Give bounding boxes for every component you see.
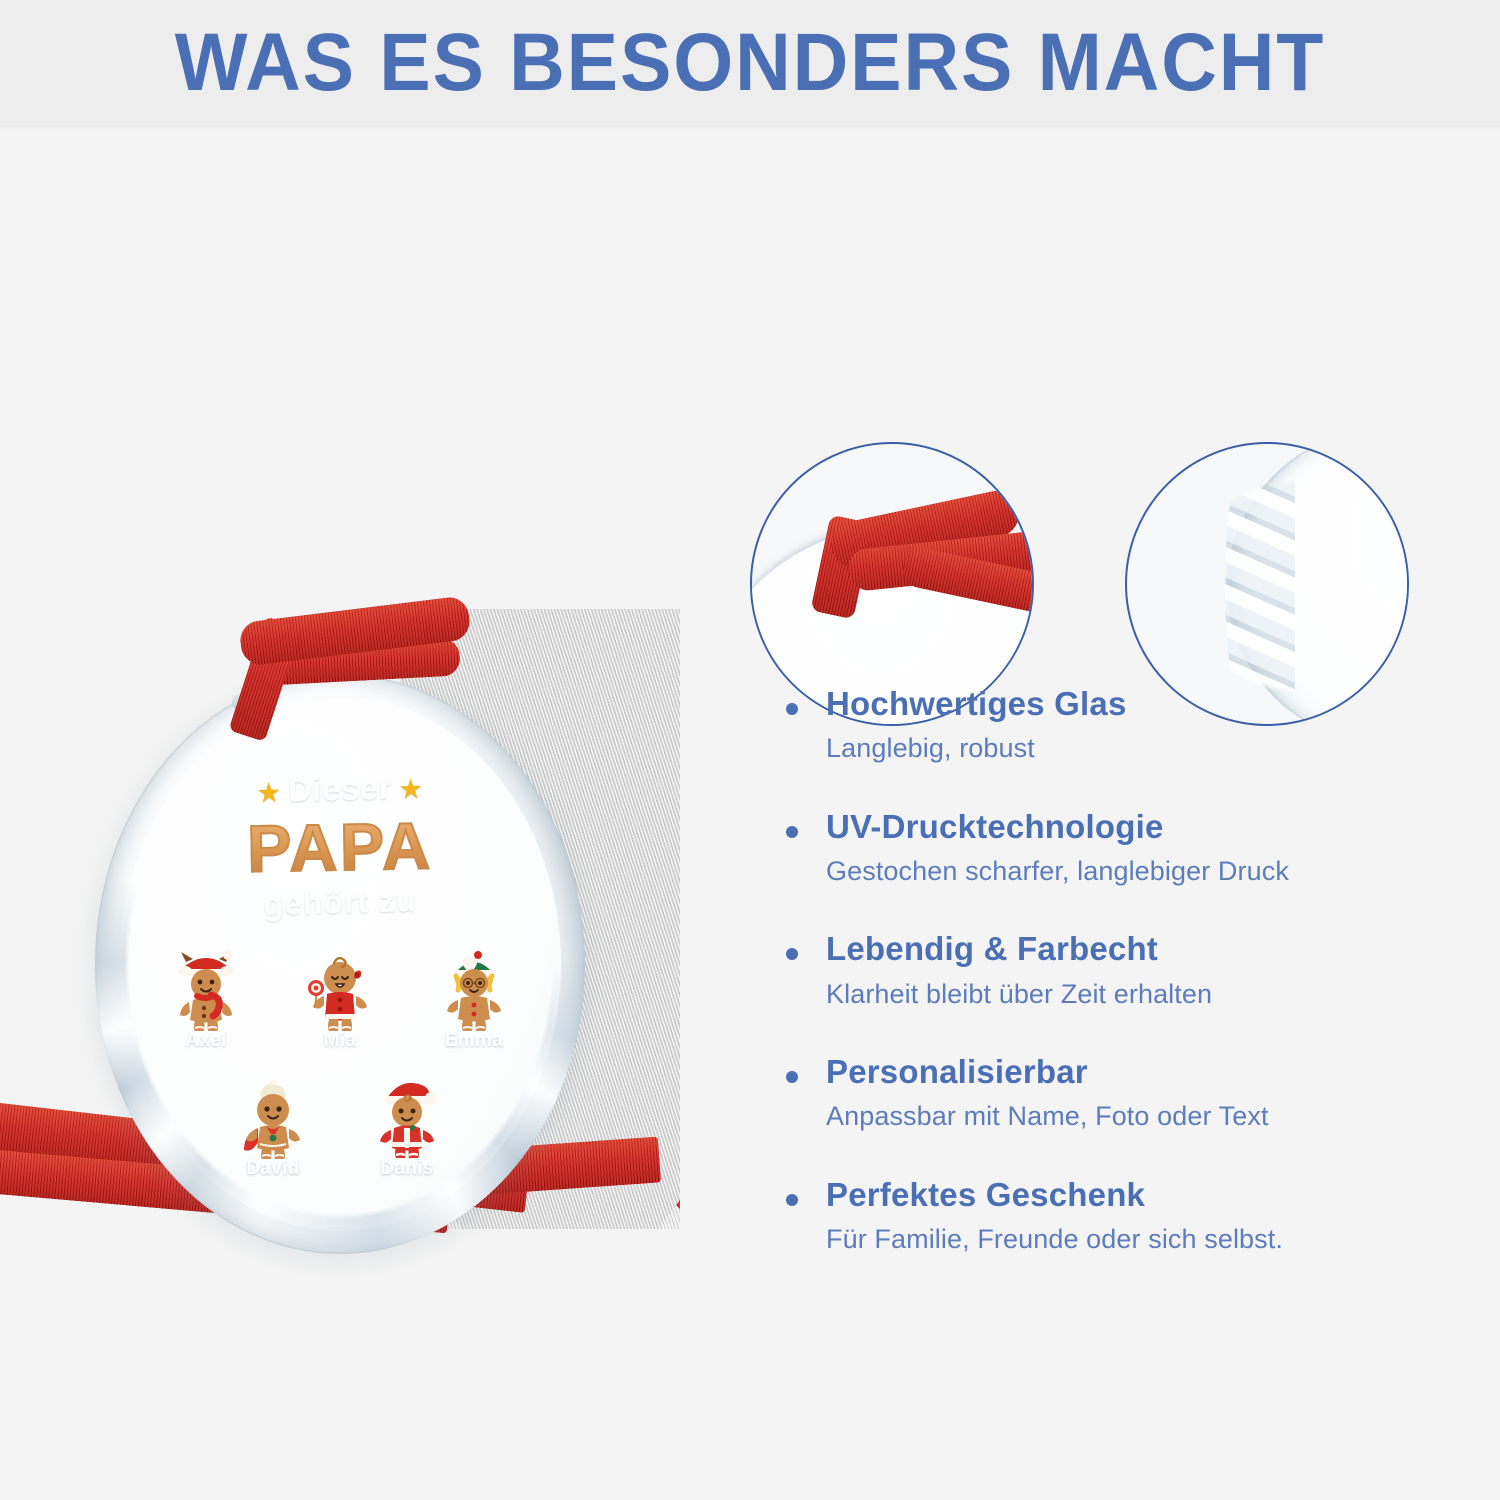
feature-title: Perfektes Geschenk [826,1175,1420,1215]
family-member-name: Danis [380,1158,433,1180]
gingerbread-david-icon [236,1074,310,1160]
star-icon: ★ [400,775,423,805]
feature-item: UV-Drucktechnologie Gestochen scharfer, … [780,807,1420,890]
feature-title: UV-Drucktechnologie [826,807,1420,847]
family-row-top: Axel [95,946,585,1052]
star-icon: ★ [258,778,281,808]
gingerbread-mia-icon [303,946,377,1032]
family-member: David [232,1074,314,1180]
artwork-text-papa: PAPA [95,805,585,890]
feature-item: Perfektes Geschenk Für Familie, Freunde … [780,1175,1420,1258]
page-header: WAS ES BESONDERS MACHT [0,0,1500,126]
artwork-text-dieser: Dieser [288,769,393,809]
feature-subtitle: Klarheit bleibt über Zeit erhalten [826,976,1420,1012]
feature-title: Lebendig & Farbecht [826,929,1420,969]
feature-subtitle: Gestochen scharfer, langlebiger Druck [826,853,1420,889]
family-row-bottom: David [95,1074,585,1180]
bullet-dot-icon [786,1194,798,1206]
feature-list: Hochwertiges Glas Langlebig, robust UV-D… [780,684,1420,1297]
page-title: WAS ES BESONDERS MACHT [175,16,1326,110]
family-member-name: Emma [445,1030,503,1052]
product-photo: ★Dieser★ PAPA gehört zu [0,459,720,1289]
feature-title: Hochwertiges Glas [826,684,1420,724]
gingerbread-emma-icon [437,946,511,1032]
family-member: Mia [299,946,381,1052]
feature-subtitle: Langlebig, robust [826,730,1420,766]
family-member: Emma [433,946,515,1052]
glass-ornament-disc: ★Dieser★ PAPA gehört zu [95,674,585,1254]
gingerbread-axel-icon [169,946,243,1032]
feature-item: Personalisierbar Anpassbar mit Name, Fot… [780,1052,1420,1135]
bullet-dot-icon [786,1071,798,1083]
feature-title: Personalisierbar [826,1052,1420,1092]
bullet-dot-icon [786,948,798,960]
family-member: Danis [366,1074,448,1180]
feature-item: Lebendig & Farbecht Klarheit bleibt über… [780,929,1420,1012]
bullet-dot-icon [786,703,798,715]
family-member-name: Mia [324,1030,357,1052]
feature-subtitle: Anpassbar mit Name, Foto oder Text [826,1098,1420,1134]
family-member-name: Axel [185,1030,226,1052]
family-member-name: David [246,1158,299,1180]
family-member: Axel [165,946,247,1052]
gingerbread-danis-icon [370,1074,444,1160]
content-stage: ★Dieser★ PAPA gehört zu [0,129,1500,1500]
feature-item: Hochwertiges Glas Langlebig, robust [780,684,1420,767]
feature-subtitle: Für Familie, Freunde oder sich selbst. [826,1221,1420,1257]
bullet-dot-icon [786,826,798,838]
printed-artwork: ★Dieser★ PAPA gehört zu [95,674,585,1254]
